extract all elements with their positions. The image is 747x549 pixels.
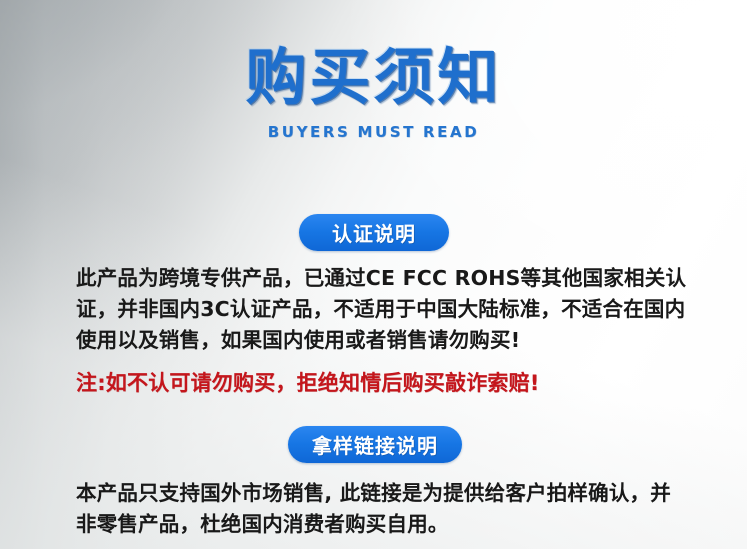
badge-certification: 认证说明	[299, 214, 449, 251]
page-title: 购买须知	[0, 46, 747, 109]
subtitle-word-buyers: BUYERS	[268, 123, 351, 141]
subtitle-word-must: MUST	[357, 123, 416, 141]
subtitle-word-read: READ	[423, 123, 479, 141]
buyers-notice-page: 购买须知 BUYERS MUST READ 认证说明 此产品为跨境专供产品，已通…	[0, 0, 747, 549]
page-content: 购买须知 BUYERS MUST READ 认证说明 此产品为跨境专供产品，已通…	[0, 0, 747, 549]
title-block: 购买须知 BUYERS MUST READ	[0, 46, 747, 141]
sample-link-body-text: 本产品只支持国外市场销售, 此链接是为提供给客户拍样确认，并非零售产品，杜绝国内…	[76, 478, 688, 540]
certification-body-text: 此产品为跨境专供产品，已通过CE FCC ROHS等其他国家相关认证，并非国内3…	[76, 263, 688, 356]
warning-text: 注:如不认可请勿购买，拒绝知情后购买敲诈索赔!	[76, 368, 688, 398]
badge-sample-link: 拿样链接说明	[288, 426, 462, 463]
page-subtitle: BUYERS MUST READ	[0, 123, 747, 141]
